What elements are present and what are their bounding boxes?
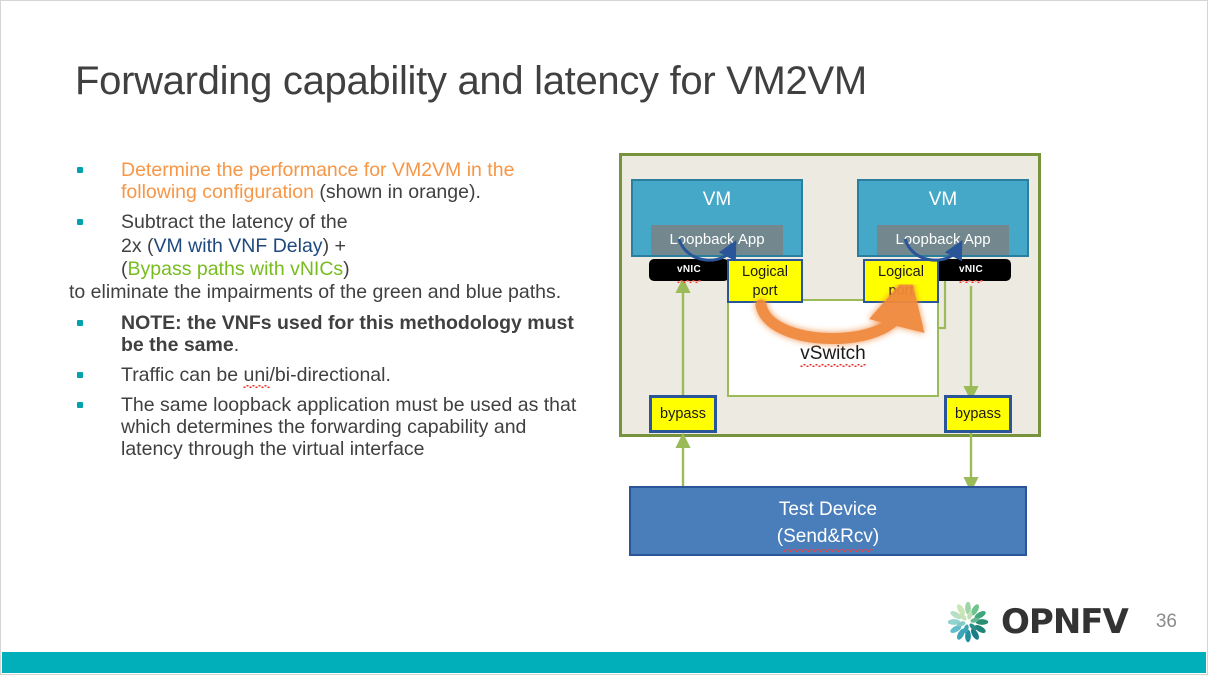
footer-accent-bar (2, 652, 1206, 673)
vm-right-label: VM (859, 189, 1027, 211)
misspelled-word-sendrcv: Send&Rcv (783, 523, 873, 550)
vm-with-vnf-delay-text: VM with VNF Delay (154, 235, 323, 257)
list-item-3: NOTE: the VNFs used for this methodology… (69, 312, 589, 356)
logical-port-right-line1: Logical (865, 263, 937, 282)
vm2vm-architecture-diagram: vSwitch VM Loopback App VM Loopback App … (619, 153, 1043, 559)
vswitch-label-wrapper: vSwitch (729, 343, 937, 365)
traffic-prefix-text: Traffic can be (121, 364, 243, 386)
opnfv-branding: OPNFV 36 (945, 601, 1177, 643)
bullet-2-line-2: 2x (VM with VNF Delay) + (69, 235, 589, 257)
bypass-left: bypass (649, 395, 717, 433)
misspelled-word-vnic: vNIC (959, 259, 983, 281)
loopback-application-text: The same loopback application must be us… (121, 394, 576, 460)
vm-left-label: VM (633, 189, 801, 211)
opnfv-logo-icon (945, 601, 991, 643)
vm-right: VM Loopback App (857, 179, 1029, 257)
vnic-left: vNIC (649, 259, 729, 281)
bullet-marker-icon (77, 167, 83, 173)
bypass-right: bypass (944, 395, 1012, 433)
list-item-2: Subtract the latency of the (69, 211, 589, 233)
list-item-1: Determine the performance for VM2VM in t… (69, 159, 589, 203)
line3-suffix: ) (343, 258, 350, 280)
eliminate-impairments-text: to eliminate the impairments of the gree… (69, 281, 561, 303)
logical-port-right: Logical port (863, 259, 939, 303)
logical-port-left: Logical port (727, 259, 803, 303)
bullet-marker-icon (77, 320, 83, 326)
bullet-marker-icon (77, 219, 83, 225)
bullet-list: Determine the performance for VM2VM in t… (69, 159, 589, 468)
bullet-marker-icon (77, 372, 83, 378)
vm-left: VM Loopback App (631, 179, 803, 257)
traffic-suffix-text: /bi-directional. (270, 364, 391, 386)
misspelled-word-vnic: vNIC (677, 259, 701, 281)
logical-port-right-line2: port (865, 282, 937, 301)
test-device-line1: Test Device (631, 496, 1025, 523)
bullet-marker-icon (77, 402, 83, 408)
slide-canvas: Forwarding capability and latency for VM… (0, 0, 1208, 675)
logical-port-left-line1: Logical (729, 263, 801, 282)
vswitch-box: vSwitch (727, 299, 939, 397)
test-device-line2: (Send&Rcv) (631, 523, 1025, 550)
opnfv-wordmark: OPNFV (1001, 602, 1128, 642)
bullet-2-line-4: to eliminate the impairments of the gree… (69, 281, 589, 303)
page-title: Forwarding capability and latency for VM… (75, 59, 867, 104)
line2-suffix: ) + (323, 235, 346, 257)
bullet-2-line-3: (Bypass paths with vNICs) (69, 258, 589, 280)
list-item-5: The same loopback application must be us… (69, 394, 589, 460)
logical-port-left-line2: port (729, 282, 801, 301)
list-item-4: Traffic can be uni/bi-directional. (69, 364, 589, 386)
test-device-paren-close: ) (873, 526, 879, 547)
note-bold-text: NOTE: the VNFs used for this methodology… (121, 312, 574, 356)
vnic-right: vNIC (931, 259, 1011, 281)
test-device-box: Test Device (Send&Rcv) (629, 486, 1027, 556)
page-number: 36 (1156, 611, 1177, 633)
bullet-1-rest-text: (shown in orange). (314, 181, 481, 203)
bullet-2-text: Subtract the latency of the (121, 211, 348, 233)
misspelled-word-uni: uni (243, 364, 269, 386)
line2-prefix: 2x ( (121, 235, 154, 257)
vm-left-loopback-app: Loopback App (651, 225, 783, 255)
note-rest-text: . (234, 334, 239, 356)
vm-right-loopback-app: Loopback App (877, 225, 1009, 255)
misspelled-word-vswitch: vSwitch (800, 343, 865, 365)
bypass-paths-text: Bypass paths with vNICs (128, 258, 344, 280)
